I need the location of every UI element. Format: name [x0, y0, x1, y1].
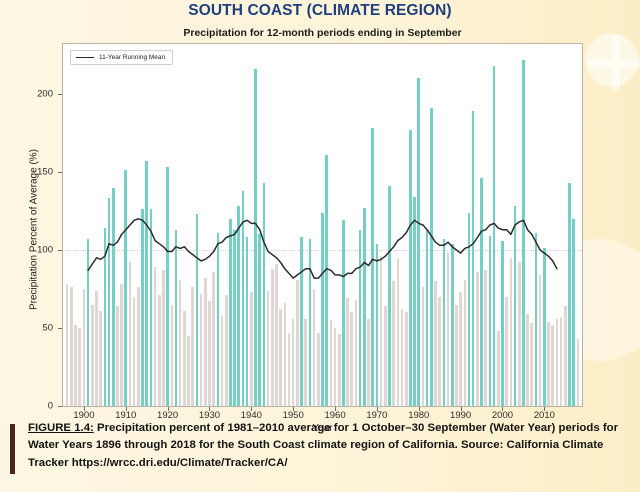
y-tick-label-0: 0 — [13, 401, 53, 412]
figure-precipitation-chart: Precipitation for 12-month periods endin… — [0, 24, 640, 414]
figure-caption-block: FIGURE 1.4: Precipitation percent of 198… — [0, 420, 640, 492]
figure-caption: FIGURE 1.4: Precipitation percent of 198… — [28, 420, 628, 472]
x-tick-mark-1900 — [84, 407, 85, 411]
plot-frame: 11-Year Running Mean — [62, 43, 583, 407]
region-title: SOUTH COAST (CLIMATE REGION) — [0, 2, 640, 20]
y-tick-label-100: 100 — [13, 244, 53, 255]
x-tick-mark-1950 — [293, 407, 294, 411]
running-mean-line — [63, 44, 582, 406]
legend-line-swatch — [76, 57, 94, 58]
x-tick-mark-1980 — [419, 407, 420, 411]
x-tick-mark-1920 — [168, 407, 169, 411]
legend-label: 11-Year Running Mean — [99, 54, 165, 61]
y-axis-label: Precipitation Percent of Average (%) — [29, 100, 40, 360]
x-tick-mark-1940 — [251, 407, 252, 411]
chart-subtitle: Precipitation for 12-month periods endin… — [62, 27, 583, 39]
x-tick-mark-2000 — [502, 407, 503, 411]
caption-accent-rule — [10, 424, 15, 474]
y-tick-label-200: 200 — [13, 88, 53, 99]
x-tick-mark-1990 — [461, 407, 462, 411]
x-tick-mark-2010 — [544, 407, 545, 411]
x-tick-mark-1930 — [209, 407, 210, 411]
x-tick-mark-1960 — [335, 407, 336, 411]
x-tick-mark-1970 — [377, 407, 378, 411]
plot-area — [63, 44, 582, 406]
chart-legend: 11-Year Running Mean — [70, 50, 173, 65]
figure-number: FIGURE 1.4: — [28, 422, 94, 434]
caption-source-url[interactable]: https://wrcc.dri.edu/Climate/Tracker/CA/ — [72, 457, 288, 469]
y-tick-label-150: 150 — [13, 166, 53, 177]
x-tick-mark-1910 — [126, 407, 127, 411]
y-tick-label-50: 50 — [13, 322, 53, 333]
